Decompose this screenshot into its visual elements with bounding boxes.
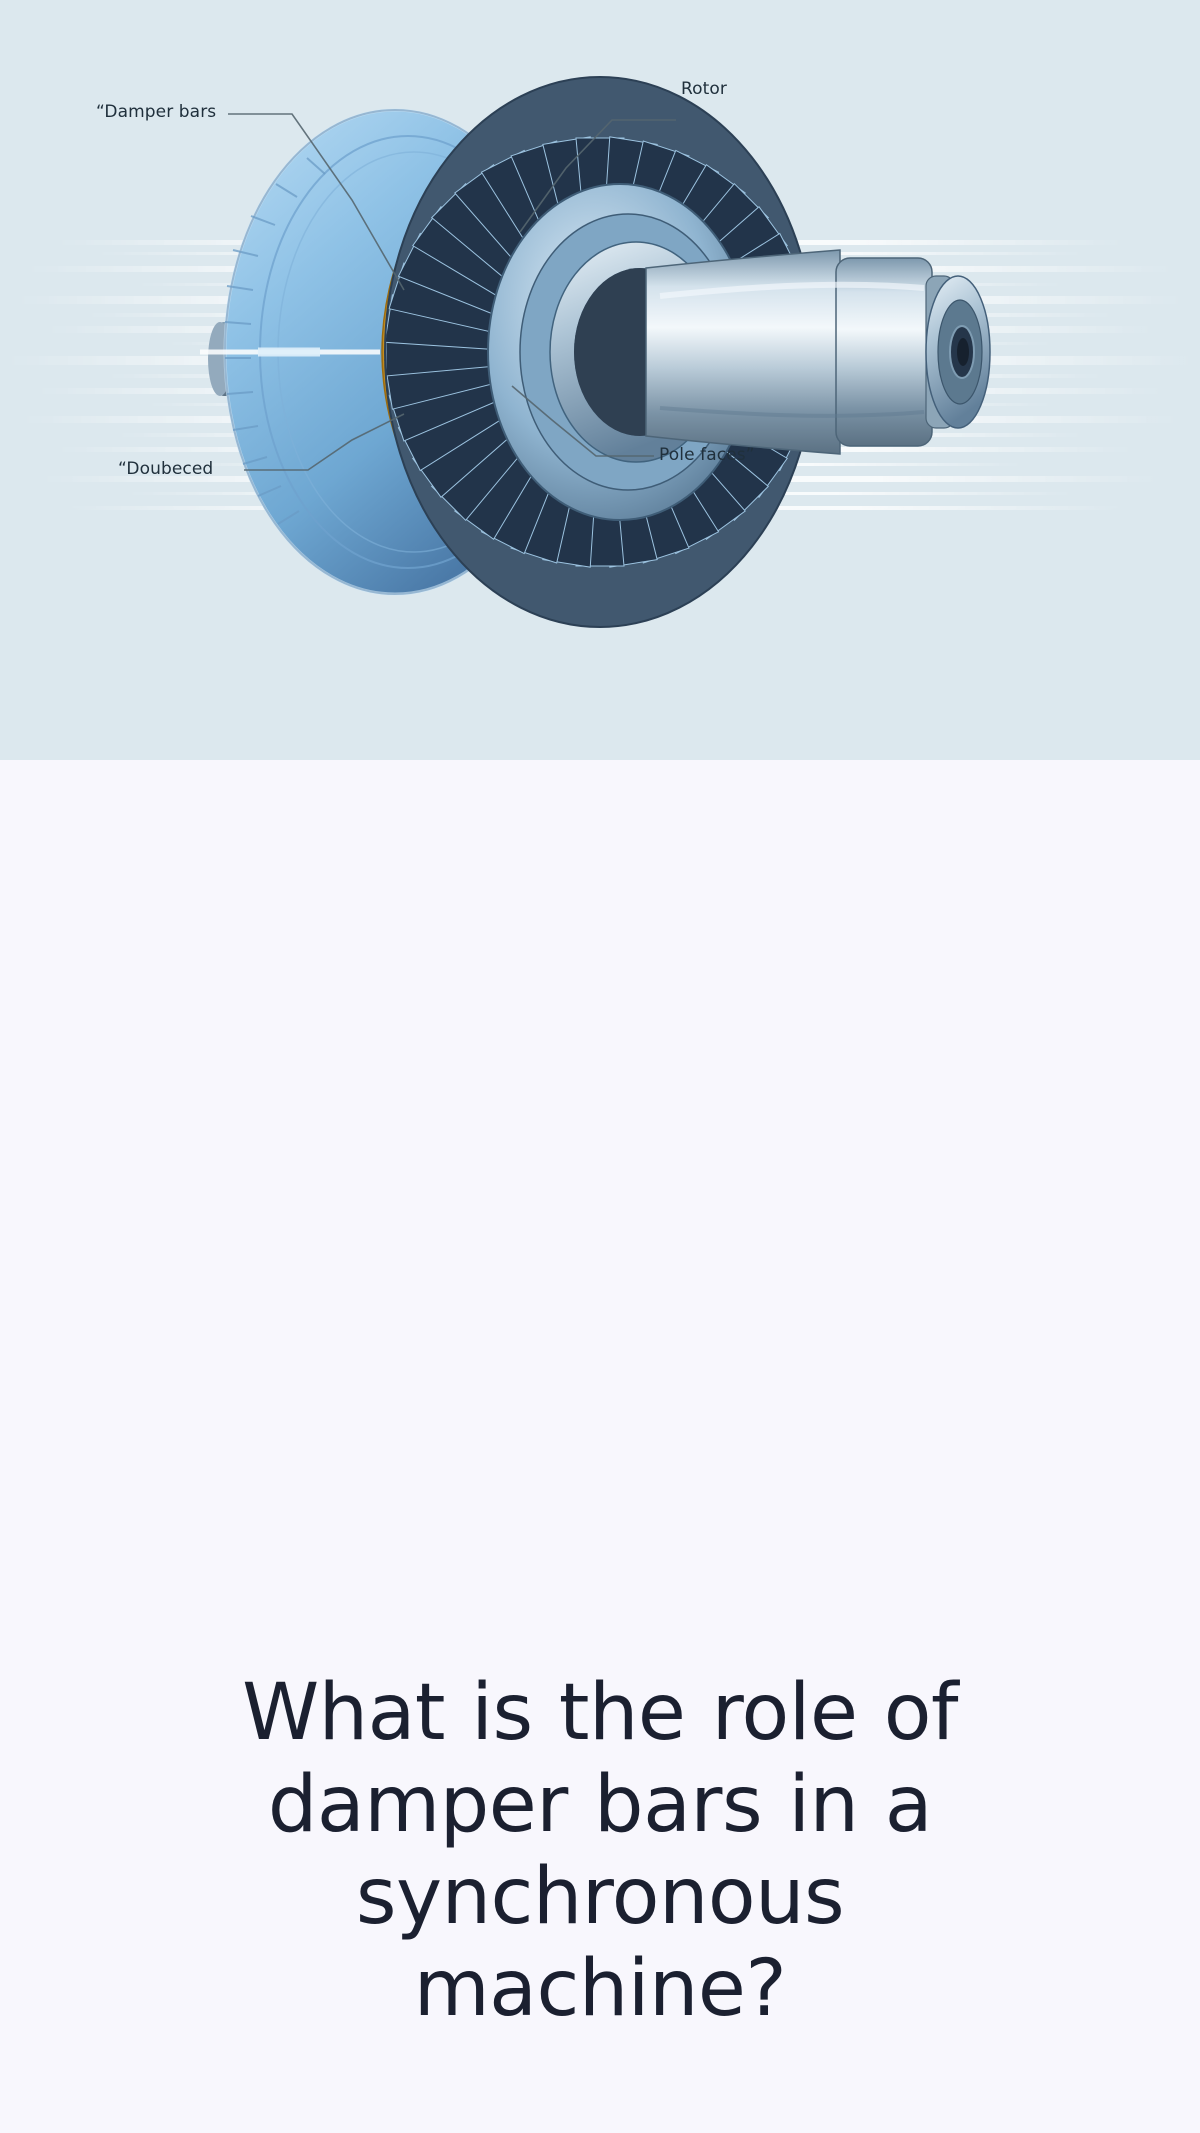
- illustration-panel: “Damper bars Rotor “Doubeced Pole faces”: [0, 0, 1200, 760]
- question-section: What is the role of damper bars in a syn…: [0, 760, 1200, 2133]
- output-shaft: [646, 250, 990, 454]
- question-title: What is the role of damper bars in a syn…: [220, 1667, 980, 2035]
- callout-label-pole-faces: Pole faces”: [659, 447, 755, 464]
- callout-label-damper-bars: “Damper bars: [96, 104, 216, 121]
- callout-label-doubeced: “Doubeced: [118, 461, 213, 478]
- callout-label-rotor: Rotor: [681, 81, 727, 98]
